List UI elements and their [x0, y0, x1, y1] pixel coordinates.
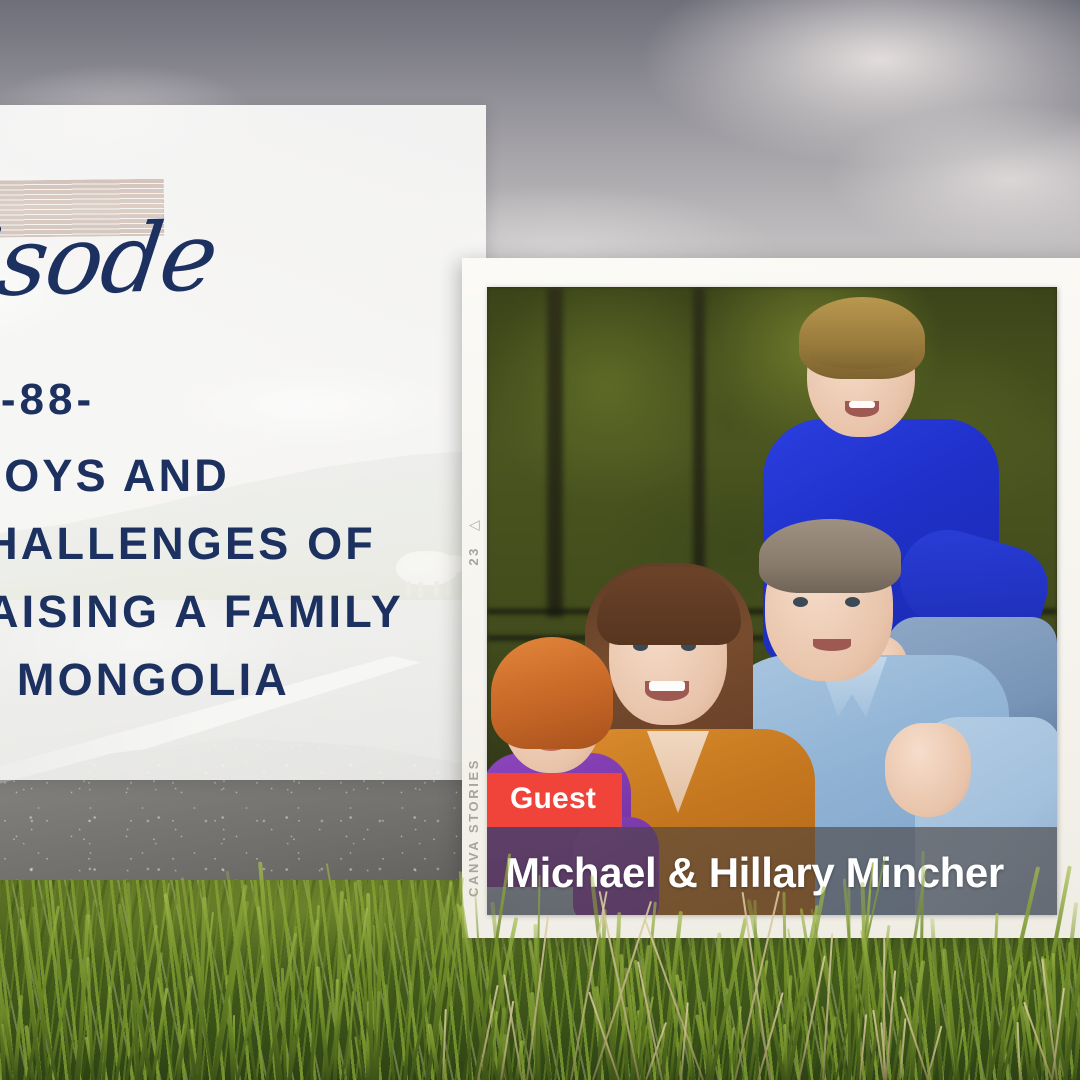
episode-number: -88- [0, 375, 158, 425]
film-arrow-icon: ▷ [469, 520, 480, 534]
portrait-mom-fringe [597, 567, 741, 645]
podcast-cover-stage: episode -88- THE JOYS AND CHALLENGES OF … [0, 0, 1080, 1080]
portrait-girl-hair [491, 637, 613, 749]
guest-name-label: Michael & Hillary Mincher [505, 849, 1004, 897]
film-frame-number: 23 [466, 546, 481, 566]
guest-photo-frame: ▷ 23 CANVA STORIES CANVA STORIES ▷ ▷ 23 [462, 258, 1080, 938]
film-brand-label: CANVA STORIES [466, 758, 481, 897]
portrait-boy-hair [799, 297, 925, 379]
title-line-4: IN MONGOLIA [0, 646, 410, 714]
portrait-tree-trunk-2 [693, 287, 705, 587]
title-line-2: CHALLENGES OF [0, 510, 410, 578]
episode-title-card: episode -88- THE JOYS AND CHALLENGES OF … [0, 105, 486, 780]
episode-eyebrow-label: episode [0, 210, 221, 314]
portrait-dad-hair [759, 519, 901, 593]
guest-badge: Guest [487, 773, 622, 827]
portrait-tree-trunk [547, 287, 563, 617]
episode-title: THE JOYS AND CHALLENGES OF RAISING A FAM… [0, 442, 410, 714]
film-rail-right: CANVA STORIES ▷ ▷ 23 [1057, 258, 1080, 938]
title-line-3: RAISING A FAMILY [0, 578, 410, 646]
guest-photo: Guest Michael & Hillary Mincher [487, 287, 1057, 915]
film-rail-left: ▷ 23 CANVA STORIES [462, 258, 487, 938]
portrait-dad-hand [885, 723, 971, 817]
title-line-1: THE JOYS AND [0, 442, 410, 510]
